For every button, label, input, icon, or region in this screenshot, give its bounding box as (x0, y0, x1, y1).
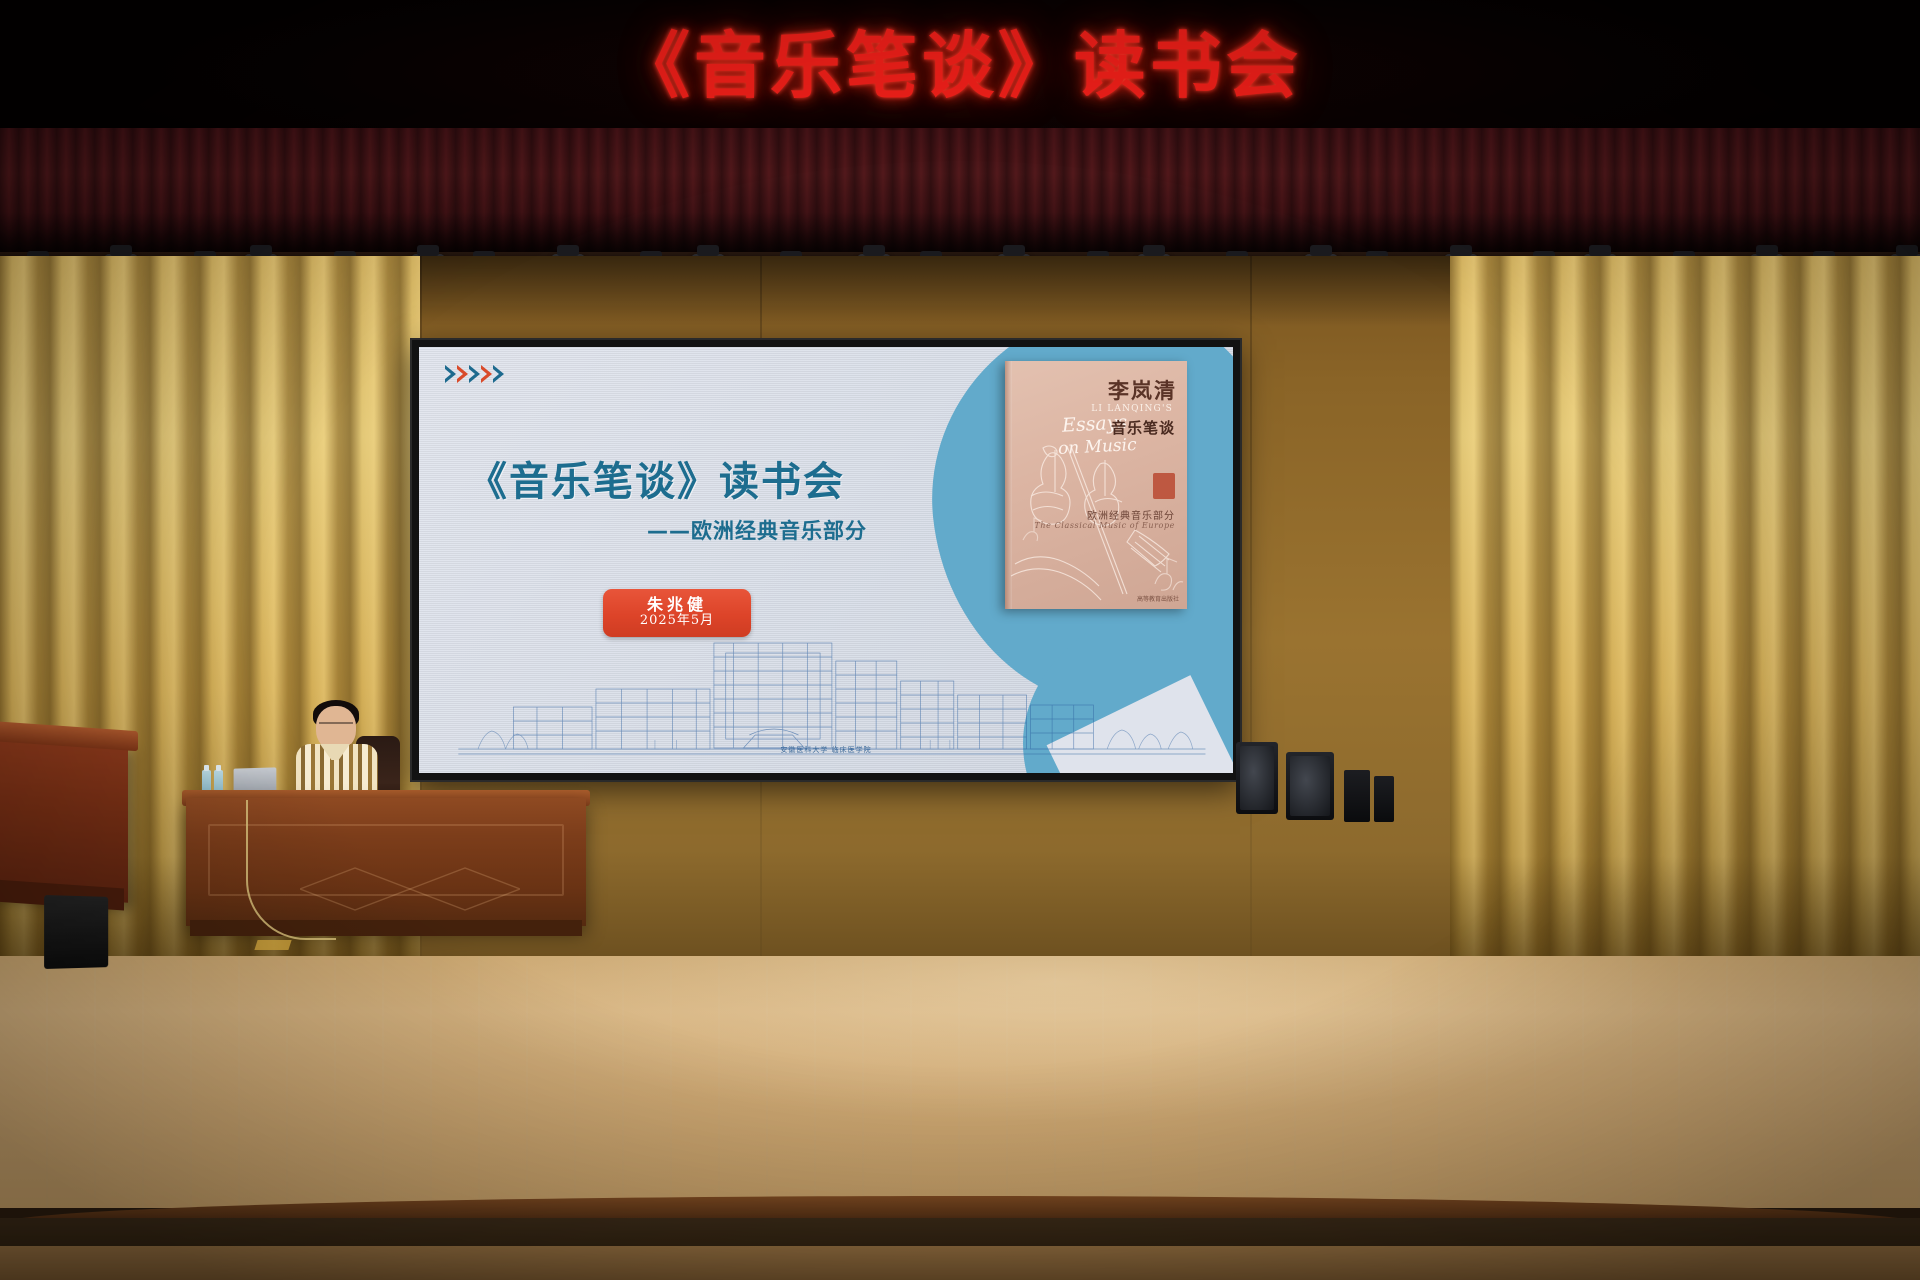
equipment-tower (1344, 770, 1370, 822)
stage-monitor-right-1 (1236, 742, 1278, 814)
chevron-arrows-logo (445, 365, 504, 383)
slide-title: 《音乐笔谈》读书会 (467, 449, 845, 507)
presenter-glasses (319, 722, 353, 729)
red-seal-stamp (1153, 473, 1175, 499)
book-subtitle-cn: 欧洲经典音乐部分 (1087, 507, 1175, 522)
presenter-name: 朱兆健 (647, 596, 707, 614)
book-cover-image: 李岚清 LI LANQING'S Essays on Music 音乐笔谈 欧洲… (1005, 361, 1187, 609)
chevron-icon (445, 365, 456, 383)
chevron-icon (493, 365, 504, 383)
book-title-cn: 音乐笔谈 (1111, 417, 1175, 438)
wall-seam (1250, 256, 1252, 956)
equipment-tower (1374, 776, 1394, 822)
led-screen[interactable]: 安徽医科大学 临床医学院 《音乐笔谈》读书会 ——欧洲经典音乐部分 朱兆健 20… (412, 340, 1240, 780)
chevron-icon (469, 365, 480, 383)
slide-subtitle: ——欧洲经典音乐部分 (647, 515, 867, 545)
led-banner-text: 《音乐笔谈》读书会 (618, 30, 1302, 102)
book-author-cn: 李岚清 (1108, 375, 1177, 405)
book-publisher: 高等教育出版社 (1137, 594, 1179, 603)
monitor-face (1240, 746, 1274, 810)
stage-monitor-right-2 (1286, 752, 1334, 820)
presentation-date: 2025年5月 (640, 613, 714, 630)
house-floor (0, 1246, 1920, 1280)
auditorium-scene: 《音乐笔谈》读书会 (0, 0, 1920, 1280)
building-caption: 安徽医科大学 临床医学院 (780, 745, 871, 755)
chevron-icon (481, 365, 492, 383)
presentation-slide: 安徽医科大学 临床医学院 《音乐笔谈》读书会 ——欧洲经典音乐部分 朱兆健 20… (419, 347, 1233, 773)
stage-speaker-left (44, 895, 108, 969)
stage-curtain-right (1450, 256, 1920, 976)
presenter (290, 690, 384, 805)
book-title-en-line2: on Music (1058, 435, 1138, 459)
lectern (0, 733, 128, 903)
floor-sheen (0, 956, 1920, 1208)
chevron-icon (457, 365, 468, 383)
led-banner: 《音乐笔谈》读书会 (0, 0, 1920, 132)
stage-floor (0, 956, 1920, 1208)
desk-base-trim (190, 920, 582, 936)
monitor-face (1290, 756, 1330, 816)
power-cable (246, 800, 336, 940)
book-subtitle-en: The Classical Music of Europe (1034, 521, 1175, 530)
presenter-badge: 朱兆健 2025年5月 (603, 589, 751, 637)
floor-cable-tape (254, 940, 291, 950)
